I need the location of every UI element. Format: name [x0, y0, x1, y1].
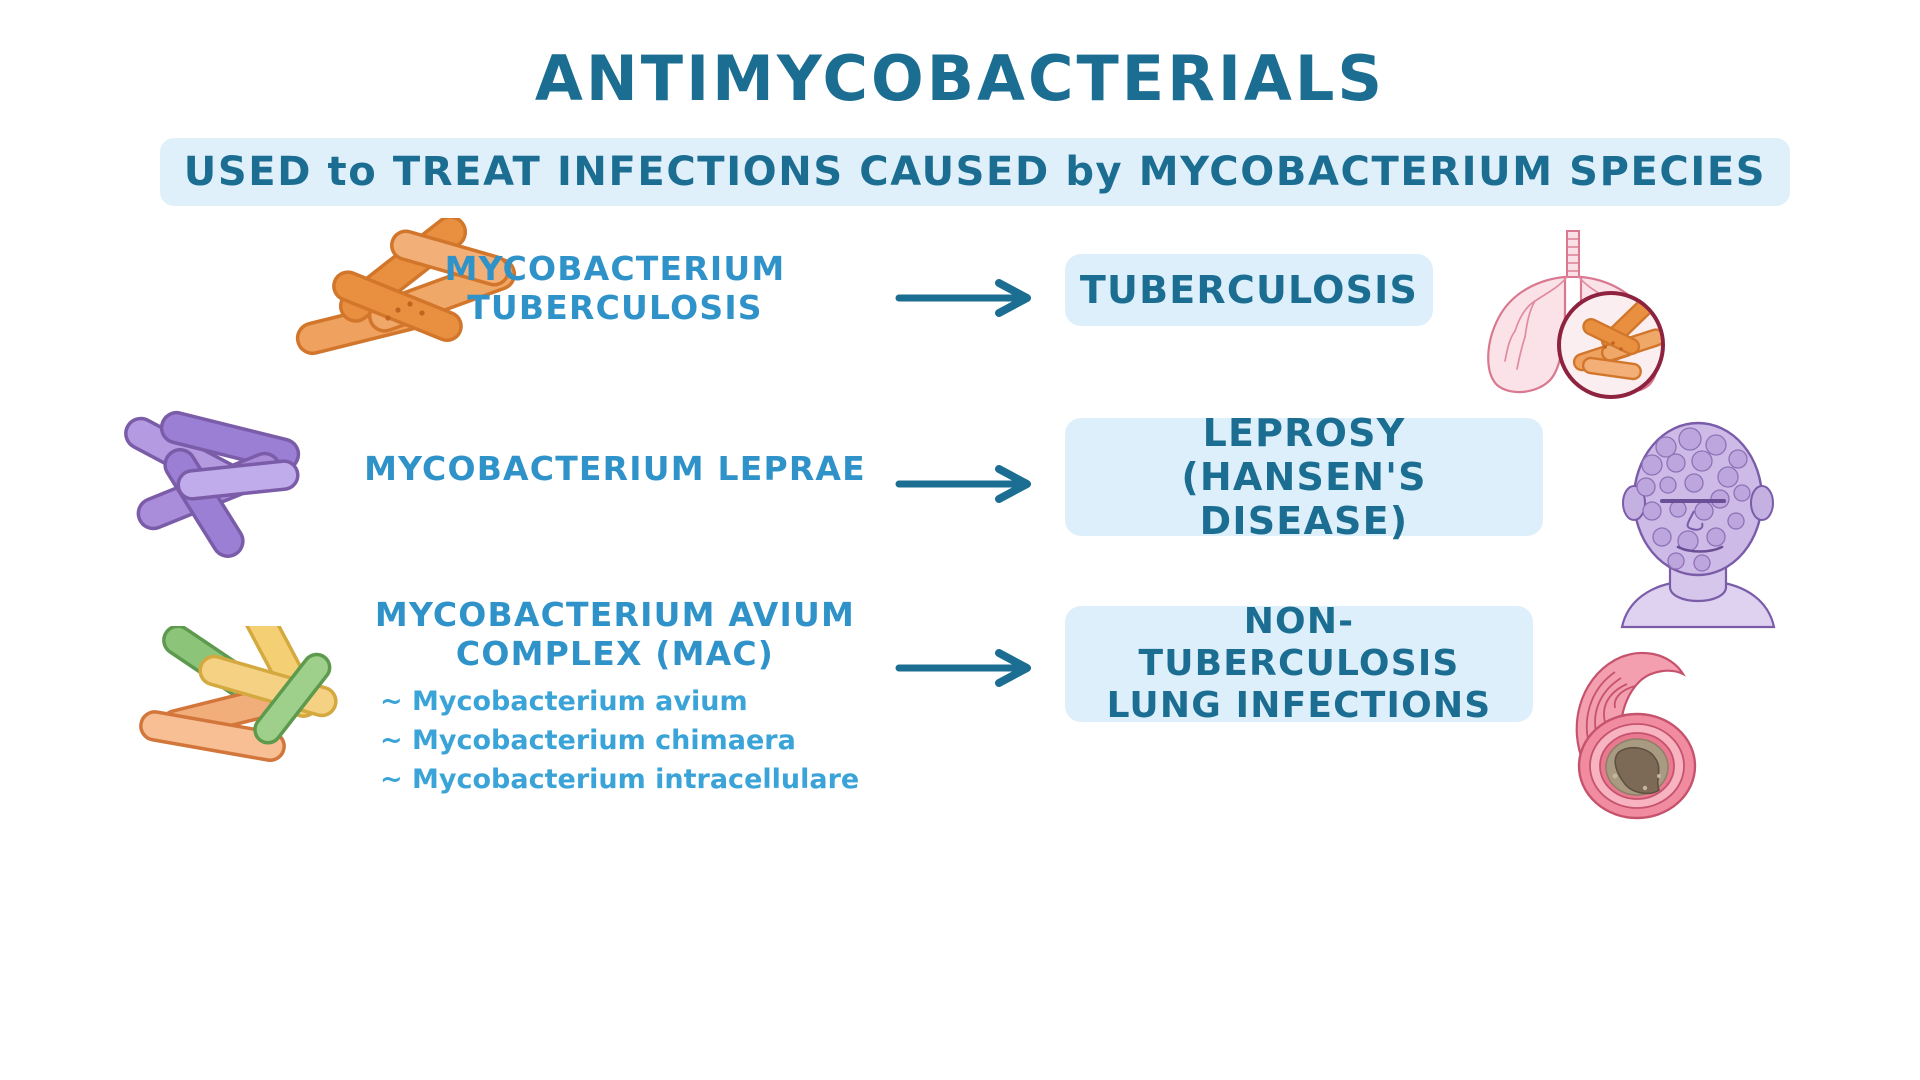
right-arrow-icon [895, 648, 1055, 688]
right-arrow-icon [895, 464, 1055, 504]
subtitle-word-to: to [328, 149, 378, 195]
organism-line-1: MYCOBACTERIUM LEPRAE [330, 450, 900, 489]
lungs-with-bacteria-inset-illustration [1455, 225, 1685, 410]
subtitle-segment-1: USED [184, 149, 328, 195]
organism-line-2: COMPLEX (MAC) [330, 635, 900, 674]
diagram-canvas: Antimycobacterials USED to TREAT INFECTI… [0, 0, 1920, 1080]
mac-species-list: ~ Mycobacterium avium ~ Mycobacterium ch… [380, 682, 900, 799]
list-item: ~ Mycobacterium avium [380, 682, 900, 721]
subtitle-word-by: by [1065, 149, 1123, 195]
disease-line-1: NON-TUBERCULOSIS [1091, 601, 1507, 685]
organism-line-1: MYCOBACTERIUM [330, 250, 900, 289]
subtitle-banner: USED to TREAT INFECTIONS CAUSED by MYCOB… [160, 138, 1790, 206]
subtitle-text: USED to TREAT INFECTIONS CAUSED by MYCOB… [184, 149, 1766, 195]
disease-label: TUBERCULOSIS [1080, 268, 1418, 312]
organism-label-tuberculosis: MYCOBACTERIUM TUBERCULOSIS [330, 250, 900, 328]
organism-label-mac: MYCOBACTERIUM AVIUM COMPLEX (MAC) [330, 596, 900, 674]
organism-line-1: MYCOBACTERIUM AVIUM [330, 596, 900, 635]
disease-badge-tuberculosis: TUBERCULOSIS [1065, 254, 1433, 326]
organism-label-leprae: MYCOBACTERIUM LEPRAE [330, 450, 900, 489]
page-title: Antimycobacterials [0, 42, 1920, 115]
leprosy-face-nodules-illustration [1590, 415, 1805, 630]
disease-badge-leprosy: LEPROSY (HANSEN'S DISEASE) [1065, 418, 1543, 536]
subtitle-segment-3: MYCOBACTERIUM SPECIES [1123, 149, 1766, 195]
disease-line-1: LEPROSY [1091, 411, 1517, 455]
list-item: ~ Mycobacterium chimaera [380, 721, 900, 760]
bronchus-cross-section-illustration [1545, 640, 1730, 825]
subtitle-segment-2: TREAT INFECTIONS CAUSED [377, 149, 1065, 195]
list-item: ~ Mycobacterium intracellulare [380, 760, 900, 799]
disease-line-2: LUNG INFECTIONS [1091, 685, 1507, 727]
organism-line-2: TUBERCULOSIS [330, 289, 900, 328]
disease-line-2: (HANSEN'S DISEASE) [1091, 455, 1517, 543]
right-arrow-icon [895, 278, 1055, 318]
disease-badge-ntm-lung: NON-TUBERCULOSIS LUNG INFECTIONS [1065, 606, 1533, 722]
